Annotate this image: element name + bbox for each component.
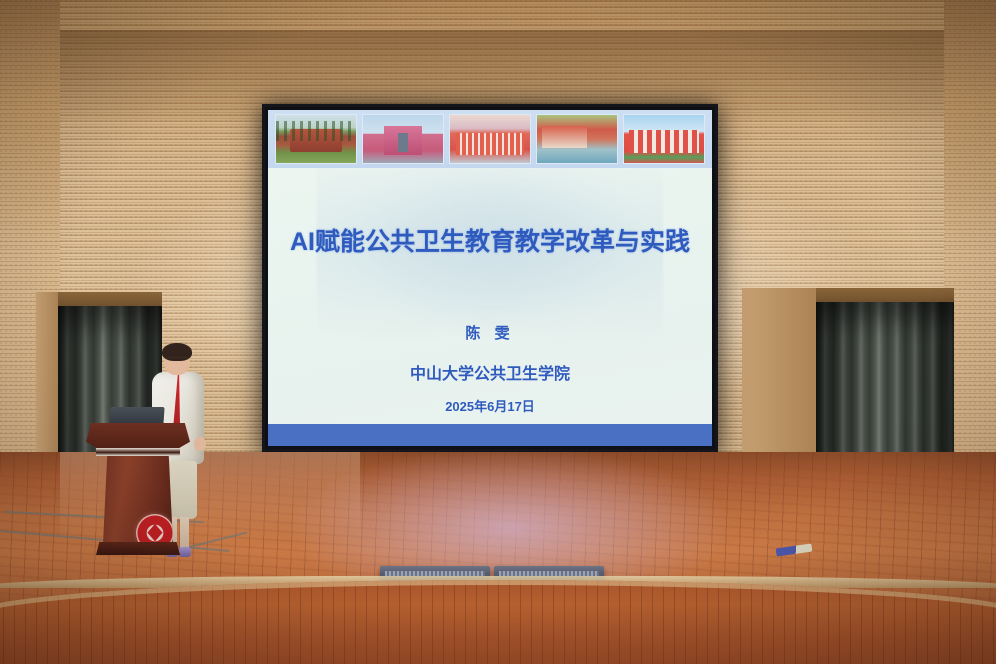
- auditorium-photo: AI赋能公共卫生教育教学改革与实践 陈 雯 中山大学公共卫生学院 2025年6月…: [0, 0, 996, 664]
- projection-screen[interactable]: AI赋能公共卫生教育教学改革与实践 陈 雯 中山大学公共卫生学院 2025年6月…: [262, 104, 718, 452]
- campus-photo-1: [275, 114, 357, 164]
- stage-apron: [0, 580, 996, 664]
- campus-photo-3: [449, 114, 531, 164]
- slide-title: AI赋能公共卫生教育教学改革与实践: [268, 222, 712, 258]
- presentation-slide: AI赋能公共卫生教育教学改革与实践 陈 雯 中山大学公共卫生学院 2025年6月…: [268, 110, 712, 446]
- slide-photo-strip: [268, 110, 712, 168]
- campus-photo-4: [536, 114, 618, 164]
- podium-body: [103, 456, 173, 544]
- podium-trim-stripe: [96, 448, 180, 456]
- podium: [86, 423, 190, 555]
- presenter-glasses: [166, 357, 188, 362]
- slide-presenter-name: 陈 雯: [268, 322, 712, 343]
- laptop-on-podium[interactable]: [109, 407, 164, 425]
- campus-photo-5: [623, 114, 705, 164]
- podium-base: [96, 542, 180, 555]
- slide-bottom-bar: [268, 424, 712, 446]
- slide-organization: 中山大学公共卫生学院: [268, 360, 712, 384]
- campus-photo-2: [362, 114, 444, 164]
- slide-date: 2025年6月17日: [268, 396, 712, 415]
- presenter-hand: [194, 437, 206, 451]
- podium-top: [86, 423, 190, 449]
